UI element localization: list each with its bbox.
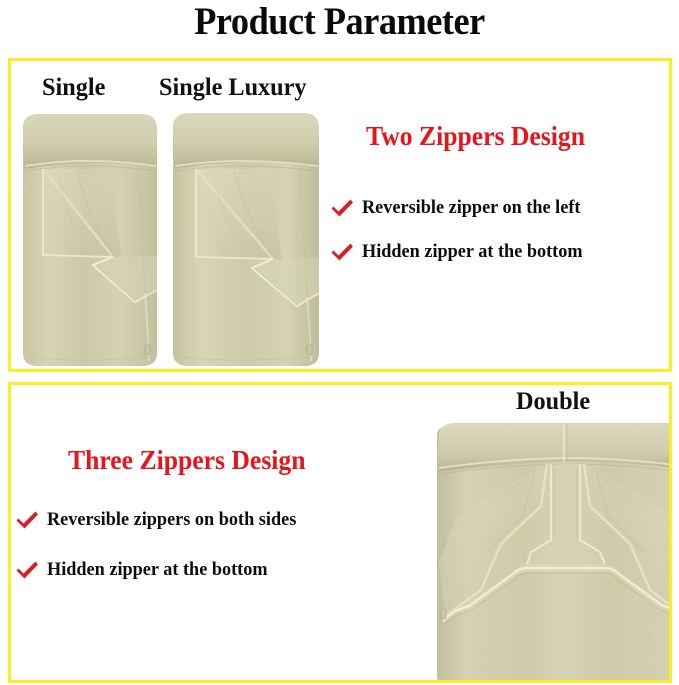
three-zippers-panel: Double Three Zippers Design Reversible z… bbox=[8, 382, 672, 683]
feature-row: Reversible zippers on both sides bbox=[14, 509, 307, 531]
feature-row: Hidden zipper at the bottom bbox=[329, 241, 592, 263]
sleeping-bag-liner-single-luxury-icon bbox=[166, 103, 326, 371]
sleeping-bag-liner-double-icon bbox=[423, 412, 672, 683]
feature-row: Reversible zipper on the left bbox=[329, 197, 590, 219]
feature-text: Reversible zippers on both sides bbox=[47, 509, 296, 531]
product-parameter-infographic: Product Parameter Single Single Luxury bbox=[0, 0, 679, 685]
feature-row: Hidden zipper at the bottom bbox=[14, 559, 277, 581]
red-check-icon bbox=[329, 197, 355, 219]
sleeping-bag-liner-single-icon bbox=[17, 105, 163, 371]
feature-text: Reversible zipper on the left bbox=[362, 197, 581, 219]
page-title: Product Parameter bbox=[24, 1, 655, 43]
product-caption-single: Single bbox=[42, 74, 105, 101]
product-caption-double: Double bbox=[516, 388, 590, 415]
red-check-icon bbox=[14, 559, 40, 581]
product-caption-single-luxury: Single Luxury bbox=[159, 74, 307, 101]
red-check-icon bbox=[14, 509, 40, 531]
feature-text: Hidden zipper at the bottom bbox=[47, 559, 268, 581]
feature-text: Hidden zipper at the bottom bbox=[362, 241, 583, 263]
section-heading-two-zippers: Two Zippers Design bbox=[366, 121, 585, 151]
section-heading-three-zippers: Three Zippers Design bbox=[68, 445, 306, 475]
two-zippers-panel: Single Single Luxury bbox=[8, 58, 672, 372]
red-check-icon bbox=[329, 241, 355, 263]
